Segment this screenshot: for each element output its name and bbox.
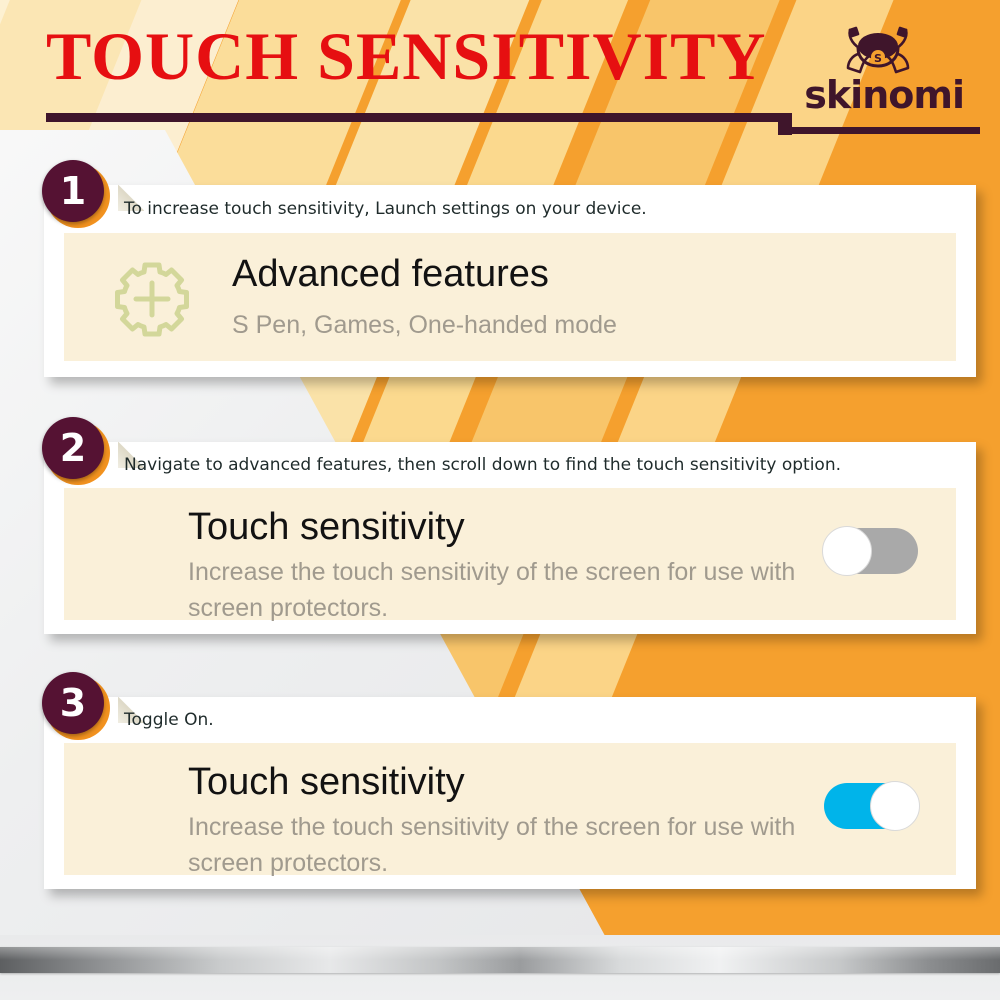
header: TOUCH SENSITIVITY S (0, 0, 1000, 140)
infographic-page: TOUCH SENSITIVITY S (0, 0, 1000, 1000)
step-3-setting-subtitle: Increase the touch sensitivity of the sc… (188, 809, 838, 882)
step-2-setting-subtitle: Increase the touch sensitivity of the sc… (188, 554, 838, 627)
step-3-setting-panel[interactable]: Touch sensitivity Increase the touch sen… (64, 743, 956, 875)
samurai-helmet-icon: S (836, 24, 920, 78)
brand-name: skinomi (804, 76, 964, 114)
step-2-instruction: Navigate to advanced features, then scro… (124, 455, 841, 475)
step-3-instruction: Toggle On. (124, 710, 214, 730)
step-1-setting-title: Advanced features (232, 255, 549, 293)
page-title: TOUCH SENSITIVITY (46, 22, 767, 90)
toggle-knob (822, 526, 872, 576)
bottom-metal-bar (0, 947, 1000, 973)
toggle-knob (870, 781, 920, 831)
touch-sensitivity-toggle-on[interactable] (824, 783, 918, 829)
step-2-number: 2 (42, 417, 104, 479)
brand-logo: S skinomi (782, 24, 982, 124)
step-2-badge: 2 (42, 417, 110, 485)
step-1-instruction: To increase touch sensitivity, Launch se… (124, 199, 647, 219)
step-2-setting-title: Touch sensitivity (188, 508, 465, 546)
step-2-setting-panel[interactable]: Touch sensitivity Increase the touch sen… (64, 488, 956, 620)
gear-plus-icon (112, 259, 192, 344)
svg-text:S: S (874, 52, 882, 65)
title-underline (46, 113, 786, 122)
step-1-badge: 1 (42, 160, 110, 228)
step-3-setting-title: Touch sensitivity (188, 763, 465, 801)
step-3-number: 3 (42, 672, 104, 734)
touch-sensitivity-toggle-off[interactable] (824, 528, 918, 574)
brand-underline (786, 127, 980, 134)
step-1-setting-panel[interactable]: Advanced features S Pen, Games, One-hand… (64, 233, 956, 361)
step-3-badge: 3 (42, 672, 110, 740)
step-1-setting-subtitle: S Pen, Games, One-handed mode (232, 307, 932, 343)
step-1-number: 1 (42, 160, 104, 222)
